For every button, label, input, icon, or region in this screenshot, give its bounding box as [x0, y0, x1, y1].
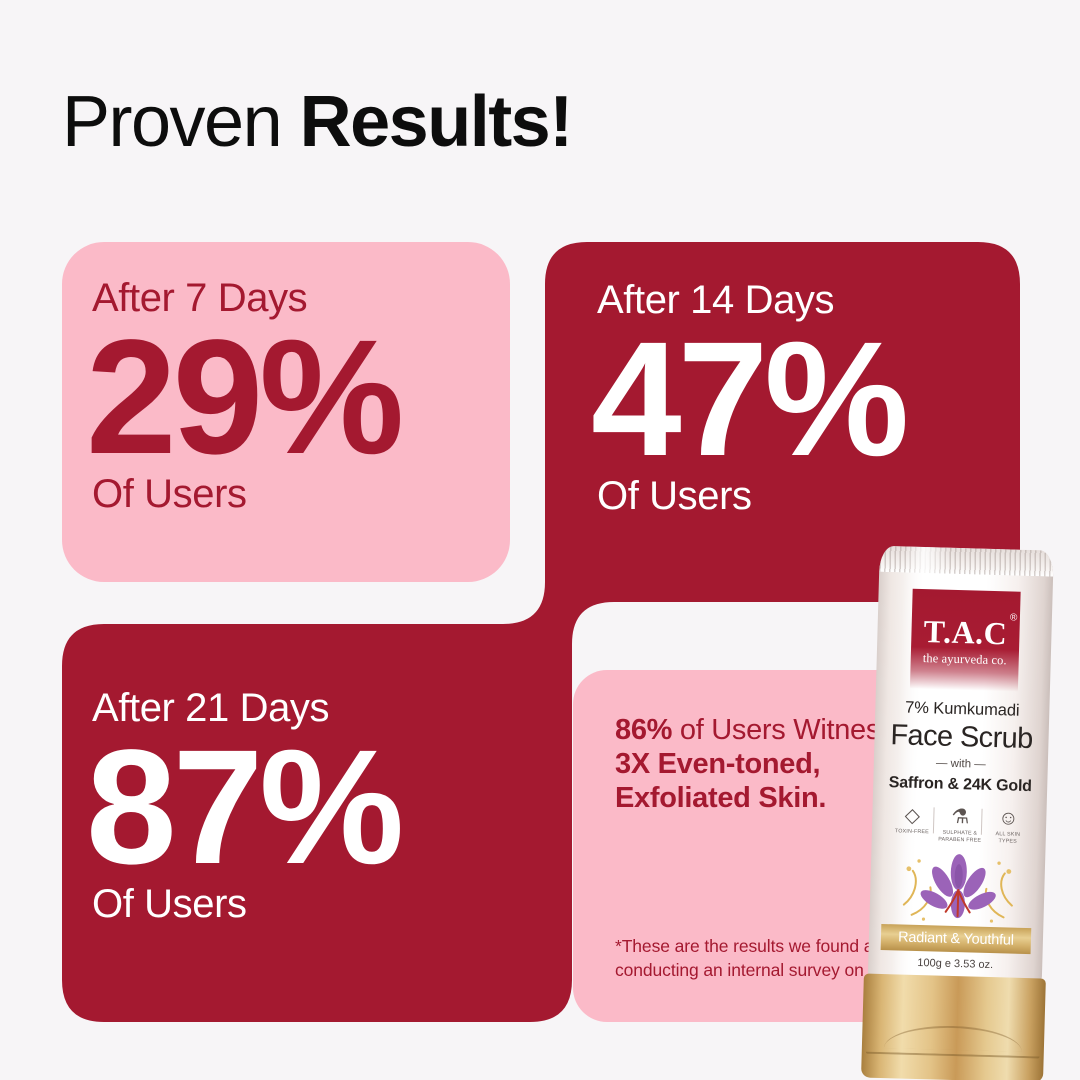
- badge-caption: ALL SKIN TYPES: [986, 831, 1030, 845]
- badge-all-skin-types: ☺ ALL SKIN TYPES: [986, 807, 1031, 845]
- toxin-free-icon: ◇: [890, 804, 935, 827]
- badge-toxin-free: ◇ TOXIN-FREE: [890, 804, 935, 836]
- stat-value: 87%: [86, 732, 400, 882]
- product-concentration: 7% Kumkumadi: [875, 698, 1049, 722]
- registered-mark-icon: ®: [1010, 613, 1018, 623]
- product-banner: Radiant & Youthful: [881, 924, 1032, 954]
- product-ingredients: Saffron & 24K Gold: [873, 774, 1047, 797]
- brand-name: T.A.C®: [923, 589, 1008, 649]
- brand-logo-plate: T.A.C® the ayurveda co.: [910, 589, 1021, 692]
- stat-value: 47%: [591, 324, 905, 474]
- info-claim-percent: 86%: [615, 714, 672, 746]
- badge-sulphate-paraben-free: ⚗ SULPHATE & PARABEN FREE: [938, 806, 983, 844]
- all-skin-types-icon: ☺: [986, 807, 1031, 830]
- stat-value: 29%: [86, 322, 400, 472]
- stat-text-after-14-days: After 14 Days 47% Of Users: [597, 280, 905, 516]
- brand-name-text: T.A.C: [923, 613, 1008, 651]
- product-name: Face Scrub: [874, 719, 1049, 757]
- info-claim-highlight: 3X Even-toned, Exfoliated Skin.: [615, 748, 826, 814]
- page-title-light: Proven: [62, 82, 300, 162]
- proven-results-poster: Proven Results! After 7 Days 29% Of User…: [0, 0, 1080, 1080]
- sulphate-paraben-free-icon: ⚗: [938, 806, 983, 829]
- page-title: Proven Results!: [62, 86, 572, 158]
- badge-caption: TOXIN-FREE: [890, 828, 934, 836]
- tube-cap: [861, 973, 1046, 1080]
- stat-text-after-7-days: After 7 Days 29% Of Users: [92, 278, 400, 514]
- product-net-weight: 100g e 3.53 oz.: [868, 956, 1042, 973]
- product-tube: T.A.C® the ayurveda co. 7% Kumkumadi Fac…: [859, 546, 1060, 1080]
- tube-body: T.A.C® the ayurveda co. 7% Kumkumadi Fac…: [868, 546, 1054, 983]
- cap-arc-detail: [884, 1024, 1023, 1052]
- badge-caption: SULPHATE & PARABEN FREE: [938, 830, 982, 844]
- tube-crimp-seal: [879, 546, 1054, 577]
- page-title-bold: Results!: [300, 82, 572, 162]
- product-with-label: — with —: [874, 756, 1048, 773]
- product-badge-row: ◇ TOXIN-FREE ⚗ SULPHATE & PARABEN FREE ☺…: [890, 804, 1031, 845]
- saffron-flower-icon: [895, 848, 1021, 927]
- stat-text-after-21-days: After 21 Days 87% Of Users: [92, 688, 400, 924]
- cap-rim-detail: [865, 1052, 1039, 1069]
- brand-tagline: the ayurveda co.: [911, 651, 1019, 669]
